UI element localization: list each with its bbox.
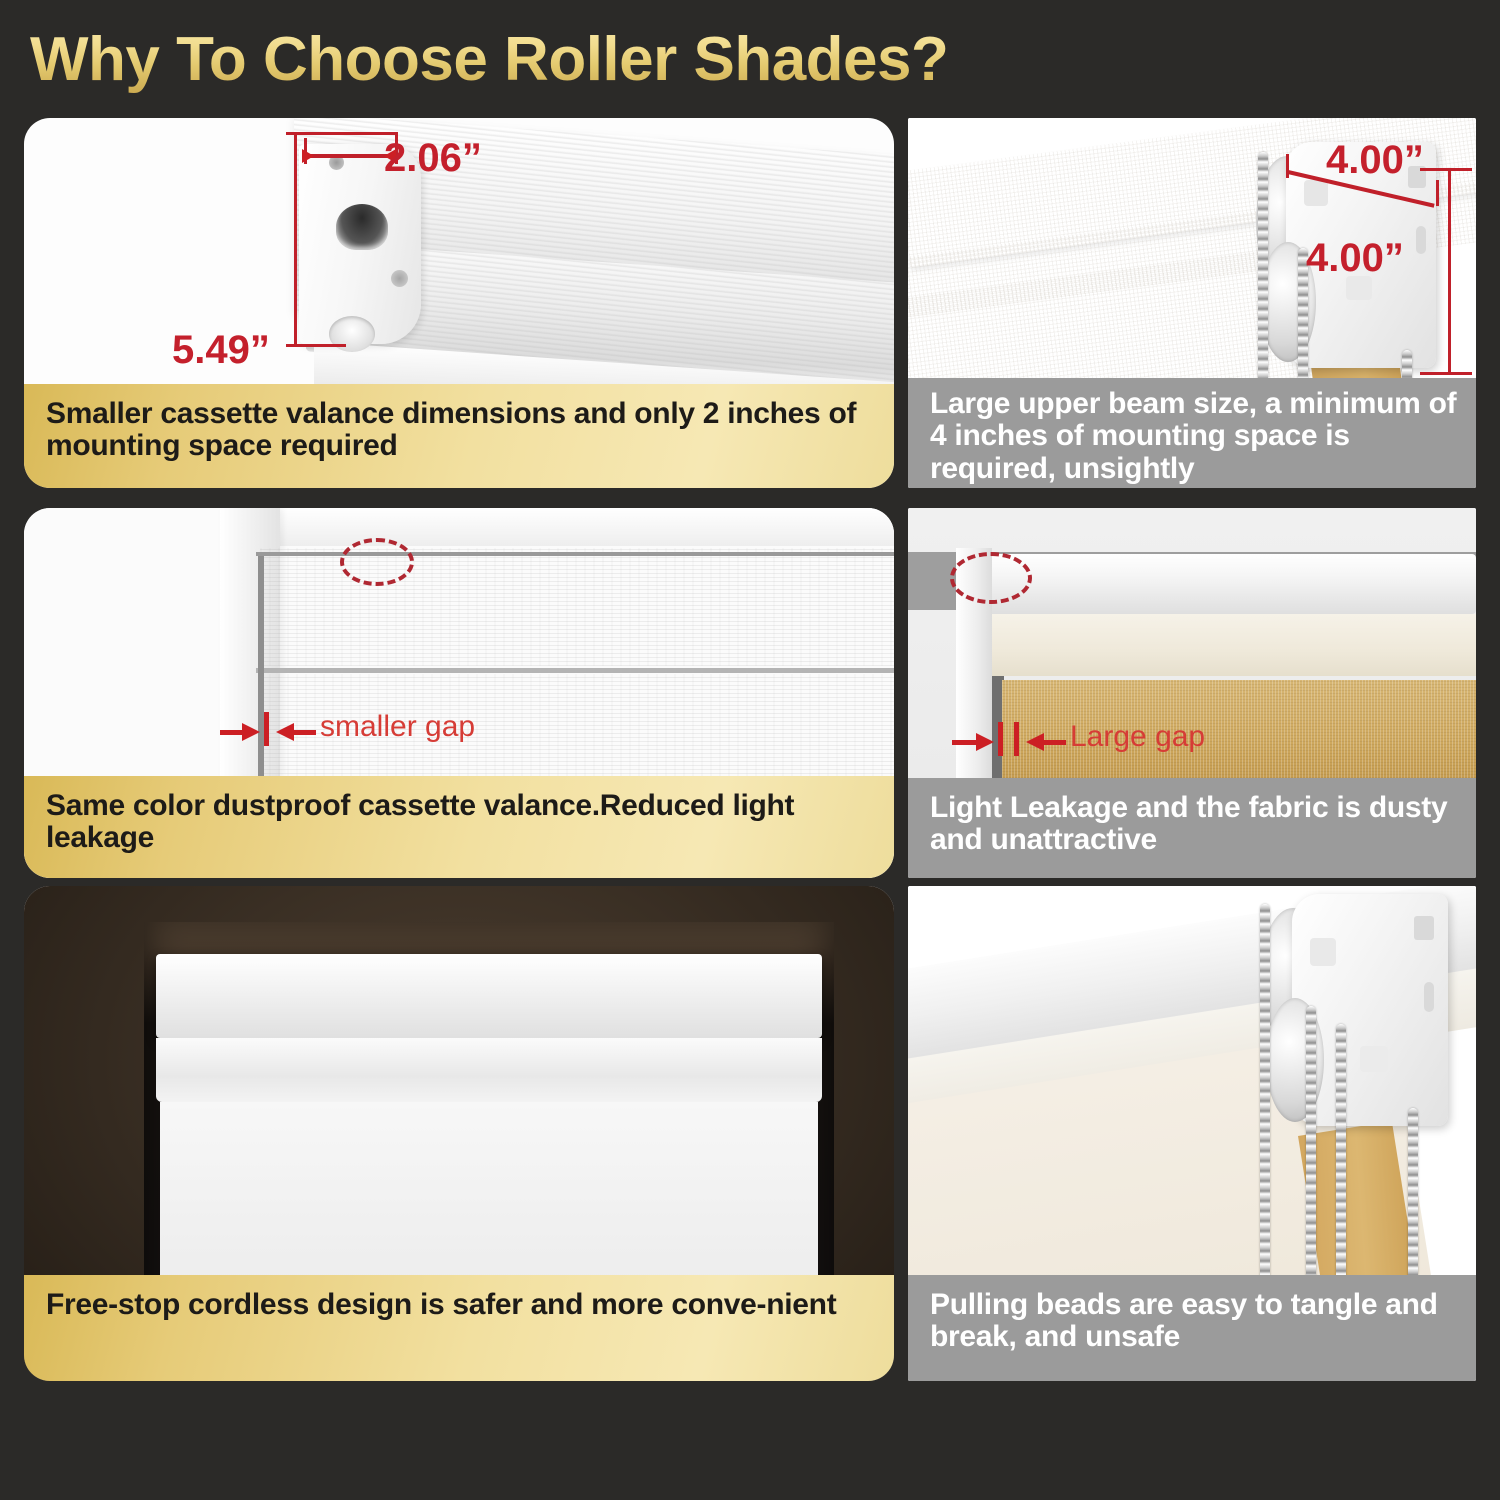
- width-dimension-label: 2.06”: [384, 136, 482, 181]
- caption-con-bottom: Pulling beads are easy to tangle and bre…: [908, 1275, 1476, 1381]
- panel-con-mid: Large gap Light Leakage and the fabric i…: [908, 508, 1476, 878]
- beam-width-label: 4.00”: [1326, 138, 1424, 183]
- height-dimension-line: [294, 134, 297, 346]
- large-gap-label: Large gap: [1070, 720, 1205, 754]
- panel-pro-bottom: Free-stop cordless design is safer and m…: [24, 886, 894, 1381]
- gap-arrow-right: [976, 733, 994, 751]
- caption-con-top: Large upper beam size, a minimum of 4 in…: [908, 378, 1476, 488]
- height-dimension-label: 5.49”: [172, 328, 270, 373]
- bead-chain[interactable]: [1258, 152, 1268, 398]
- caption-pro-bottom: Free-stop cordless design is safer and m…: [24, 1275, 894, 1381]
- panel-pro-mid: smaller gap Same color dustproof cassett…: [24, 508, 894, 878]
- panel-con-top: 4.00” 4.00” Large upper beam size, a min…: [908, 118, 1476, 488]
- caption-con-mid: Light Leakage and the fabric is dusty an…: [908, 778, 1476, 878]
- smaller-gap-label: smaller gap: [320, 710, 475, 744]
- gap-highlight-circle: [340, 538, 414, 586]
- caption-pro-mid: Same color dustproof cassette valance.Re…: [24, 776, 894, 878]
- gap-highlight-circle: [950, 552, 1032, 604]
- beam-height-label: 4.00”: [1306, 236, 1404, 281]
- page-title: Why To Choose Roller Shades?: [30, 24, 1130, 96]
- gap-arrow-left: [1026, 733, 1044, 751]
- caption-pro-top: Smaller cassette valance dimensions and …: [24, 384, 894, 488]
- panel-con-bottom: Pulling beads are easy to tangle and bre…: [908, 886, 1476, 1381]
- gap-arrow-right: [242, 723, 260, 741]
- panel-pro-top: 2.06” 5.49” Smaller cassette valance dim…: [24, 118, 894, 488]
- beam-height-dimension-line: [1448, 170, 1451, 374]
- gap-arrow-left: [276, 723, 294, 741]
- cassette-slot: [336, 204, 388, 250]
